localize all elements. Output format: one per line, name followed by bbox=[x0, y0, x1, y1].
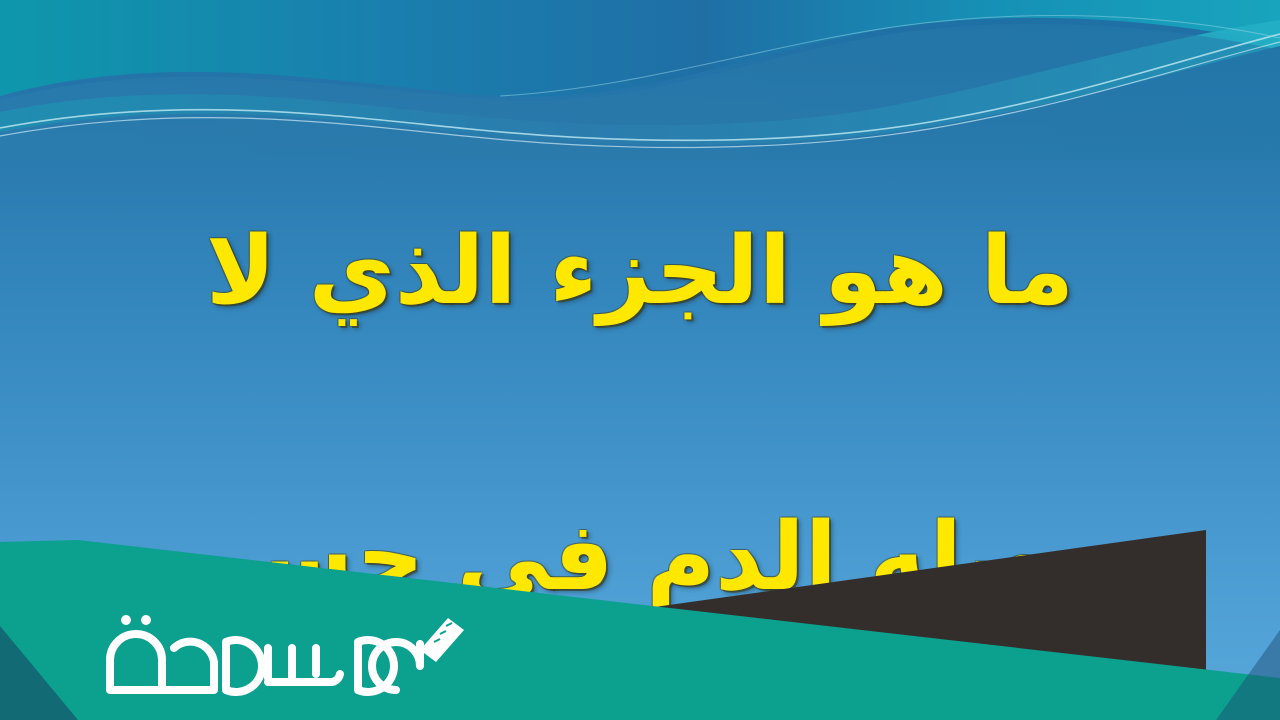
logo-glyph-ta-marbuta bbox=[110, 634, 162, 690]
magnifier-icon bbox=[420, 618, 464, 662]
logo-dot-2 bbox=[141, 615, 151, 625]
logo-wordmark bbox=[110, 615, 420, 692]
logo-dot-1 bbox=[121, 615, 131, 625]
logo-glyph-seen bbox=[268, 648, 340, 682]
headline-line-1: ما هو الجزء الذي لا bbox=[0, 201, 1280, 344]
logo-glyph-waw-1 bbox=[226, 640, 262, 692]
logo-glyph-ain bbox=[162, 642, 214, 690]
slide-canvas: ما هو الجزء الذي لا يصله الدم في جسم الإ… bbox=[0, 0, 1280, 720]
mawsuah-logo[interactable] bbox=[96, 604, 476, 696]
